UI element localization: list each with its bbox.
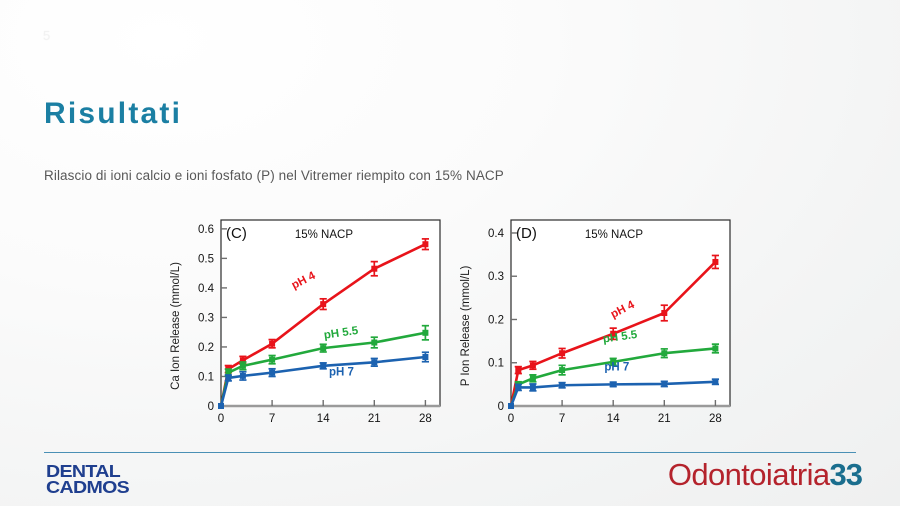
y-tick-label: 0.2 <box>198 342 214 354</box>
data-point <box>515 367 521 373</box>
data-point <box>661 350 667 356</box>
data-point <box>371 359 377 365</box>
data-point <box>661 381 667 387</box>
data-point <box>320 345 326 351</box>
data-point <box>225 375 231 381</box>
data-point <box>422 241 428 247</box>
panel-label: (D) <box>516 225 537 242</box>
data-point <box>559 367 565 373</box>
data-point <box>269 370 275 376</box>
x-tick-label: 0 <box>218 413 224 425</box>
chart-d-svg: 00.10.20.30.407142128(D)15% NACPpH 4pH 5… <box>477 210 735 442</box>
data-point <box>218 403 224 409</box>
x-tick-label: 14 <box>607 413 620 425</box>
y-tick-label: 0.1 <box>488 358 504 370</box>
data-point <box>530 375 536 381</box>
chart-c-svg: 00.10.20.30.40.50.607142128(C)15% NACPpH… <box>187 210 445 442</box>
x-tick-label: 7 <box>269 413 275 425</box>
odontoiatria-number: 33 <box>830 457 862 492</box>
chart-inner-title: 15% NACP <box>585 229 643 241</box>
data-point <box>508 403 514 409</box>
data-point <box>530 362 536 368</box>
data-point <box>559 382 565 388</box>
chart-c-plot: 00.10.20.30.40.50.607142128(C)15% NACPpH… <box>187 210 445 442</box>
y-tick-label: 0.4 <box>488 228 505 240</box>
x-tick-label: 28 <box>419 413 432 425</box>
y-tick-label: 0.6 <box>198 224 214 236</box>
y-tick-label: 0.1 <box>198 371 214 383</box>
data-point <box>661 310 667 316</box>
x-tick-label: 14 <box>317 413 330 425</box>
data-point <box>712 259 718 265</box>
panel-label: (C) <box>226 225 247 242</box>
data-point <box>712 345 718 351</box>
data-point <box>320 301 326 307</box>
x-tick-label: 0 <box>508 413 514 425</box>
chart-panel-d: P Ion Release (mmol/L) 00.10.20.30.40714… <box>455 210 735 442</box>
footer-divider <box>44 452 856 453</box>
data-point <box>559 350 565 356</box>
x-tick-label: 21 <box>658 413 671 425</box>
chart-d-plot: 00.10.20.30.407142128(D)15% NACPpH 4pH 5… <box>477 210 735 442</box>
data-point <box>712 379 718 385</box>
slide: 5 Risultati Rilascio di ioni calcio e io… <box>0 0 900 506</box>
page-number: 5 <box>43 28 51 43</box>
data-point <box>371 266 377 272</box>
chart-d-y-axis-title: P Ion Release (mmol/L) <box>460 266 472 387</box>
y-tick-label: 0.5 <box>198 253 214 265</box>
y-tick-label: 0.3 <box>198 312 214 324</box>
data-point <box>240 373 246 379</box>
page-title: Risultati <box>44 97 182 131</box>
data-point <box>371 340 377 346</box>
x-tick-label: 7 <box>559 413 565 425</box>
data-point <box>515 384 521 390</box>
data-point <box>530 384 536 390</box>
figure-container: Ca Ion Release (mmol/L) 00.10.20.30.40.5… <box>165 210 735 442</box>
series-annotation: pH 7 <box>329 366 354 378</box>
x-tick-label: 21 <box>368 413 381 425</box>
x-tick-label: 28 <box>709 413 722 425</box>
data-point <box>240 363 246 369</box>
y-tick-label: 0.4 <box>198 283 215 295</box>
odontoiatria-word: Odontoiatria <box>668 457 830 492</box>
chart-inner-title: 15% NACP <box>295 229 353 241</box>
data-point <box>610 381 616 387</box>
y-tick-label: 0 <box>498 401 504 413</box>
data-point <box>269 357 275 363</box>
data-point <box>269 341 275 347</box>
data-point <box>320 363 326 369</box>
chart-c-y-axis-title: Ca Ion Release (mmol/L) <box>170 262 182 390</box>
slide-subtitle: Rilascio di ioni calcio e ioni fosfato (… <box>44 168 504 183</box>
y-tick-label: 0.2 <box>488 314 504 326</box>
series-annotation: pH 7 <box>604 362 629 374</box>
y-tick-label: 0.3 <box>488 271 504 283</box>
chart-panel-c: Ca Ion Release (mmol/L) 00.10.20.30.40.5… <box>165 210 445 442</box>
data-point <box>422 354 428 360</box>
dental-cadmos-line2: CADMOS <box>46 479 129 495</box>
data-point <box>422 330 428 336</box>
dental-cadmos-logo: DENTAL CADMOS <box>46 463 129 495</box>
odontoiatria33-logo: Odontoiatria33 <box>668 458 862 492</box>
y-tick-label: 0 <box>208 401 214 413</box>
